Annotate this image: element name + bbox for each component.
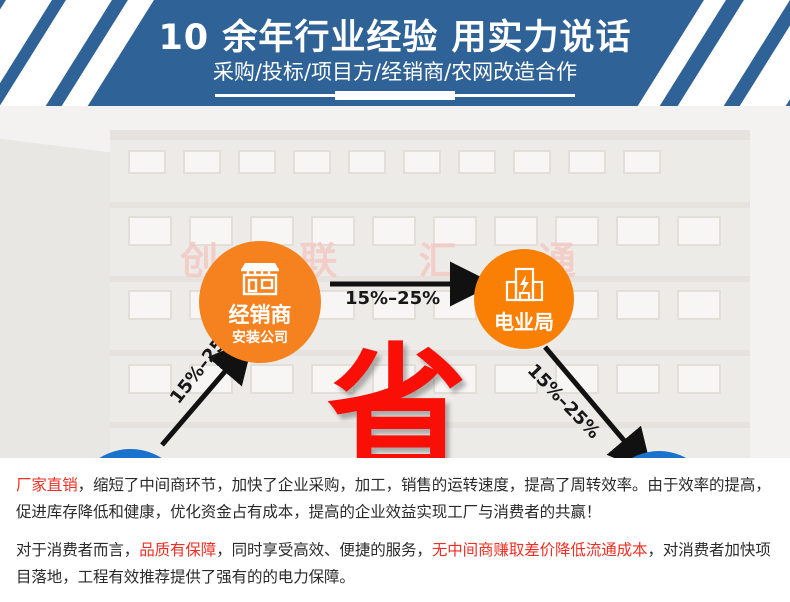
- storefront-icon: [237, 259, 283, 301]
- save-character: 省: [327, 343, 467, 458]
- flow-diagram: 创 联 汇 通 15%–25% 15%–25% 15%–25% 省 在这里省了中…: [0, 106, 790, 458]
- node-dealer-sublabel: 安装公司: [232, 331, 288, 345]
- paragraph-2-highlight-2: 无中间商赚取差价降低流通成本: [432, 541, 648, 559]
- banner-header: 10 余年行业经验 用实力说话 采购/投标/项目方/经销商/农网改造合作: [0, 0, 790, 106]
- paragraph-2-part-c: ，同时享受高效、便捷的服务，: [216, 541, 432, 559]
- node-dealer-label: 经销商: [229, 305, 292, 326]
- paragraph-2-part-a: 对于消费者而言，: [16, 541, 139, 559]
- arrow-label-dealer-to-power: 15%–25%: [345, 288, 440, 309]
- power-building-icon: [503, 266, 545, 308]
- paragraph-1-body: ，缩短了中间商环节，加快了企业采购，加工，销售的运转速度，提高了周转效率。由于效…: [16, 476, 771, 521]
- footer-description: 厂家直销，缩短了中间商环节，加快了企业采购，加工，销售的运转速度，提高了周转效率…: [0, 458, 790, 602]
- header-subtitle: 采购/投标/项目方/经销商/农网改造合作: [0, 56, 790, 86]
- node-power-bureau[interactable]: 电业局: [474, 249, 574, 349]
- node-dealer[interactable]: 经销商 安装公司: [199, 241, 321, 363]
- header-divider: [0, 91, 790, 99]
- header-title: 10 余年行业经验 用实力说话: [0, 9, 790, 60]
- paragraph-1: 厂家直销，缩短了中间商环节，加快了企业采购，加工，销售的运转速度，提高了周转效率…: [16, 472, 774, 525]
- paragraph-1-highlight: 厂家直销: [16, 476, 78, 494]
- node-power-bureau-label: 电业局: [494, 312, 554, 332]
- watermark-text: 创 联 汇 通: [0, 230, 790, 285]
- paragraph-2: 对于消费者而言，品质有保障，同时享受高效、便捷的服务，无中间商赚取差价降低流通成…: [16, 537, 774, 590]
- promo-banner: 10 余年行业经验 用实力说话 采购/投标/项目方/经销商/农网改造合作: [0, 0, 790, 602]
- paragraph-2-highlight-1: 品质有保障: [139, 541, 216, 559]
